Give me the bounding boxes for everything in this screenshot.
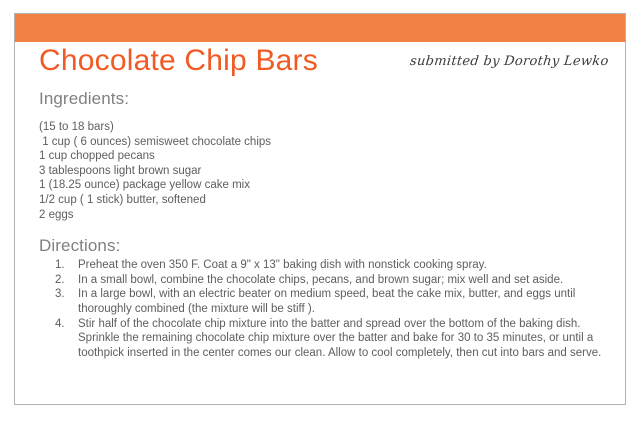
directions-list: Preheat the oven 350 F. Coat a 9" x 13" … bbox=[15, 256, 625, 360]
title-row: Chocolate Chip Bars submitted by Dorothy… bbox=[15, 42, 625, 86]
recipe-title: Chocolate Chip Bars bbox=[39, 44, 318, 78]
direction-step: Stir half of the chocolate chip mixture … bbox=[15, 317, 625, 361]
direction-step: In a small bowl, combine the chocolate c… bbox=[15, 273, 625, 288]
header-accent-bar bbox=[15, 14, 625, 42]
ingredient-item: 1 (18.25 ounce) package yellow cake mix bbox=[39, 178, 625, 193]
ingredients-heading: Ingredients: bbox=[15, 89, 625, 109]
submitted-by-signature: submitted by Dorothy Lewko bbox=[410, 54, 610, 69]
recipe-card: Chocolate Chip Bars submitted by Dorothy… bbox=[14, 13, 626, 405]
direction-step: Preheat the oven 350 F. Coat a 9" x 13" … bbox=[15, 258, 625, 273]
ingredient-item: 3 tablespoons light brown sugar bbox=[39, 164, 625, 179]
card-body: Chocolate Chip Bars submitted by Dorothy… bbox=[15, 42, 625, 404]
ingredient-item: 1 cup ( 6 ounces) semisweet chocolate ch… bbox=[39, 135, 625, 150]
ingredient-item: 2 eggs bbox=[39, 208, 625, 223]
ingredient-item: 1/2 cup ( 1 stick) butter, softened bbox=[39, 193, 625, 208]
direction-step: In a large bowl, with an electric beater… bbox=[15, 287, 625, 316]
directions-heading: Directions: bbox=[15, 236, 625, 256]
ingredients-list: (15 to 18 bars) 1 cup ( 6 ounces) semisw… bbox=[15, 109, 625, 222]
ingredient-item: 1 cup chopped pecans bbox=[39, 149, 625, 164]
ingredient-item: (15 to 18 bars) bbox=[39, 120, 625, 135]
